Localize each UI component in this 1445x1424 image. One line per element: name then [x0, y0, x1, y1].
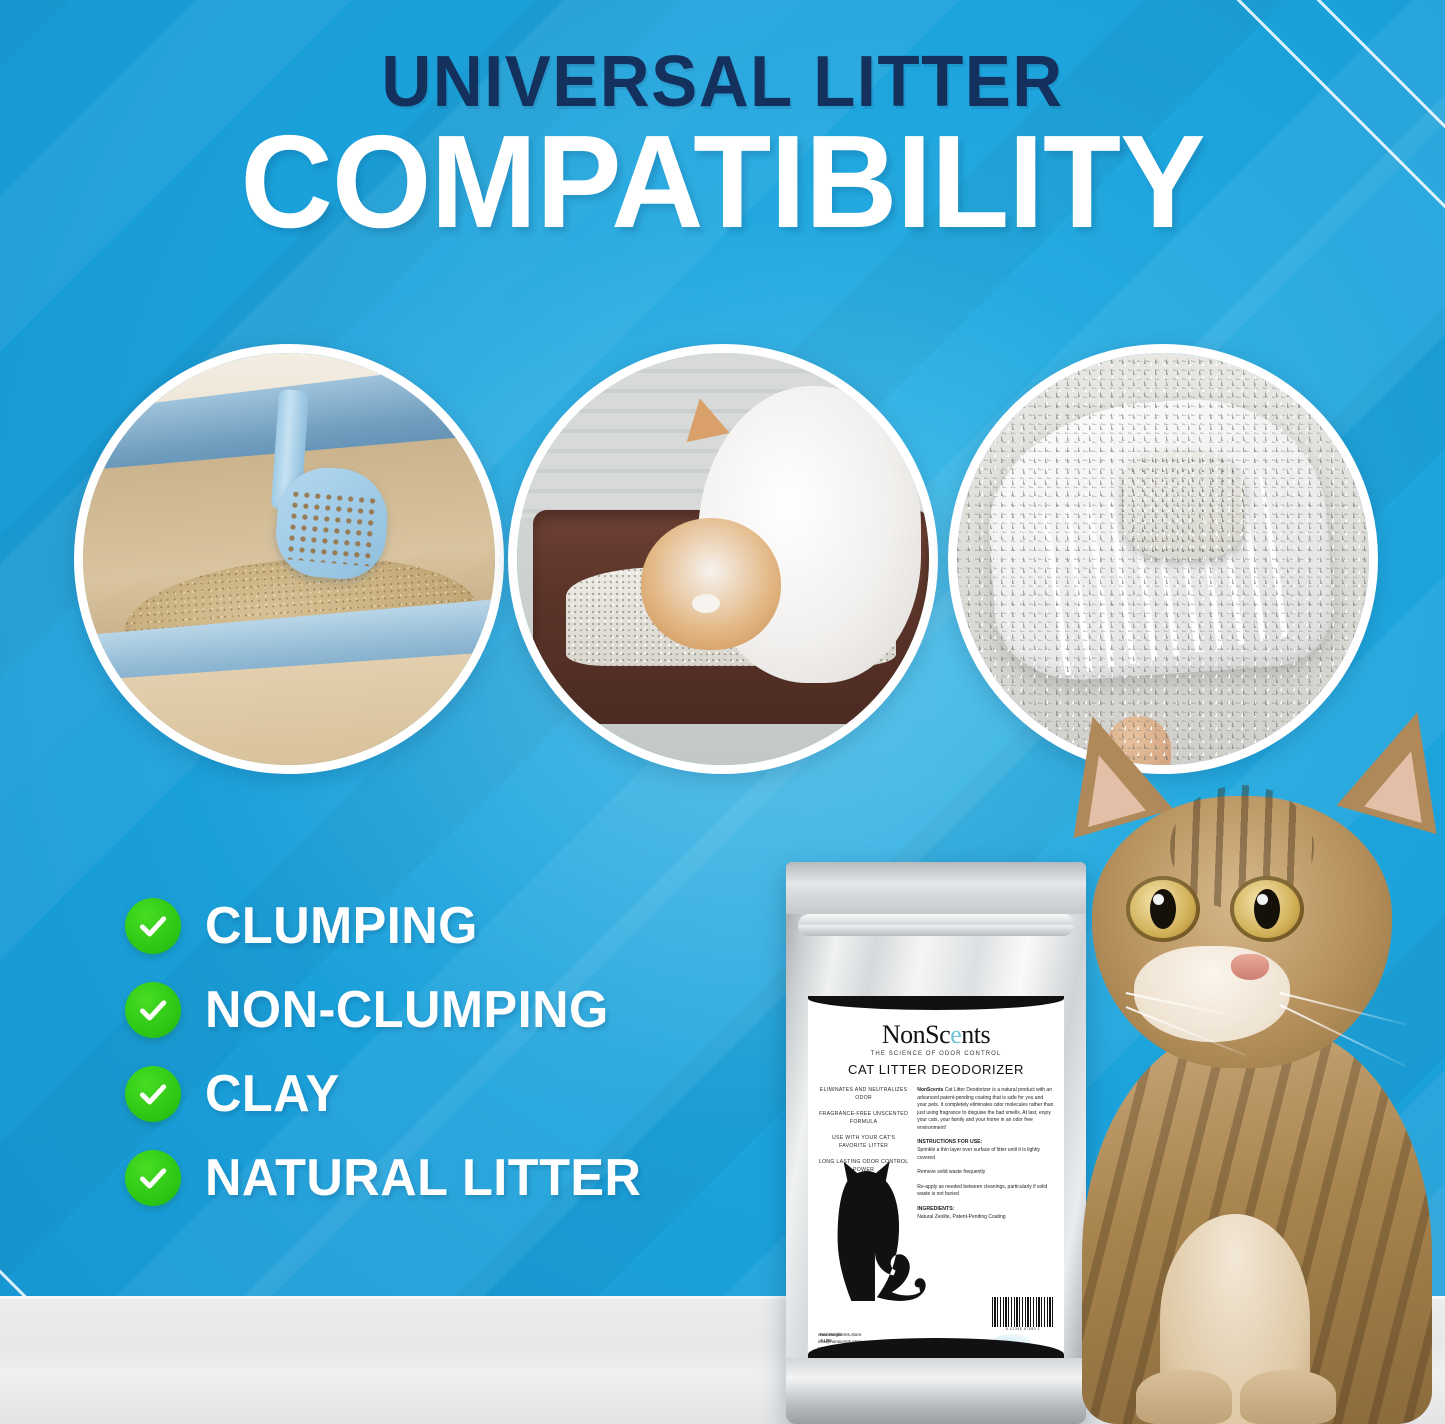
ingredients-heading: INGREDIENTS:	[917, 1206, 1054, 1212]
feature-checklist: CLUMPING NON-CLUMPING CLAY	[125, 898, 655, 1206]
photo-circle-kitten-litter-box	[508, 344, 938, 774]
product-name: CAT LITTER DEODORIZER	[808, 1062, 1064, 1077]
feature-label: CLAY	[205, 1068, 340, 1120]
cat-pupil-left	[1150, 889, 1176, 929]
cat-nose	[1231, 954, 1269, 980]
label-description-column: NonScents Cat Litter Deodorizer is a nat…	[917, 1087, 1054, 1228]
brand-block: NonScents THE SCIENCE OF ODOR CONTROL CA…	[808, 1022, 1064, 1077]
cat-paw-left	[1136, 1370, 1232, 1424]
white-litter-scoop	[981, 391, 1337, 686]
feature-item-clumping: CLUMPING	[125, 898, 655, 954]
feature-item-clay: CLAY	[125, 1066, 655, 1122]
cat-paw-right	[1240, 1370, 1336, 1424]
tabby-cat-mascot	[1040, 700, 1445, 1424]
benefit-bullet: USE WITH YOUR CAT'S FAVORITE LITTER	[818, 1135, 909, 1150]
label-description-text: Cat Litter Deodorizer is a natural produ…	[917, 1087, 1053, 1131]
brand-name-part2: nts	[961, 1020, 990, 1049]
cat-eye-right	[1230, 876, 1304, 942]
instruction-line: Remove solid waste frequently	[917, 1169, 1054, 1177]
benefit-bullet: ELIMINATES AND NEUTRALIZES ODOR	[818, 1087, 909, 1102]
instruction-line: Sprinkle a thin layer over surface of li…	[917, 1147, 1054, 1162]
feature-label: NATURAL LITTER	[205, 1152, 641, 1204]
ingredients-text: Natural Zeolite, Patent-Pending Coating	[917, 1214, 1054, 1222]
feature-label: CLUMPING	[205, 900, 478, 952]
kitten-muzzle	[692, 594, 720, 612]
website-line: www.nonscents.store	[818, 1331, 863, 1338]
benefit-bullet: FRAGRANCE-FREE UNSCENTED FORMULA	[818, 1111, 909, 1126]
product-label: NonScents THE SCIENCE OF ODOR CONTROL CA…	[808, 996, 1064, 1358]
brand-tagline: THE SCIENCE OF ODOR CONTROL	[808, 1051, 1064, 1057]
photo-2-image	[517, 353, 929, 765]
scoop-slots	[1027, 474, 1291, 678]
feature-item-natural-litter: NATURAL LITTER	[125, 1150, 655, 1206]
product-infographic: UNIVERSAL LITTER COMPATIBILITY	[0, 0, 1445, 1424]
check-icon	[125, 1150, 181, 1206]
litter-clump	[1122, 452, 1246, 559]
instruction-line: Re-apply as needed between cleanings, pa…	[917, 1184, 1054, 1199]
label-top-black-bar	[808, 996, 1064, 1010]
pouch-zip-seal	[798, 914, 1074, 936]
brand-name-part1: NonSc	[882, 1020, 950, 1049]
feature-label: NON-CLUMPING	[205, 984, 609, 1036]
label-description: NonScents Cat Litter Deodorizer is a nat…	[917, 1087, 1054, 1132]
headline-line-2: COMPATIBILITY	[22, 120, 1424, 244]
check-icon	[125, 982, 181, 1038]
brand-name-wave-letter: e	[950, 1020, 961, 1049]
instructions-heading: INSTRUCTIONS FOR USE:	[917, 1139, 1054, 1145]
photo-circle-litter-box-scoop	[74, 344, 504, 774]
label-description-brand: NonScents	[917, 1087, 943, 1093]
check-icon	[125, 898, 181, 954]
feature-item-non-clumping: NON-CLUMPING	[125, 982, 655, 1038]
brand-name: NonScents	[808, 1022, 1064, 1048]
cat-eye-left	[1126, 876, 1200, 942]
kitten-head	[641, 518, 781, 650]
cat-pupil-right	[1254, 889, 1280, 929]
headline-block: UNIVERSAL LITTER COMPATIBILITY	[0, 46, 1445, 244]
photo-1-image	[83, 353, 495, 765]
check-icon	[125, 1066, 181, 1122]
